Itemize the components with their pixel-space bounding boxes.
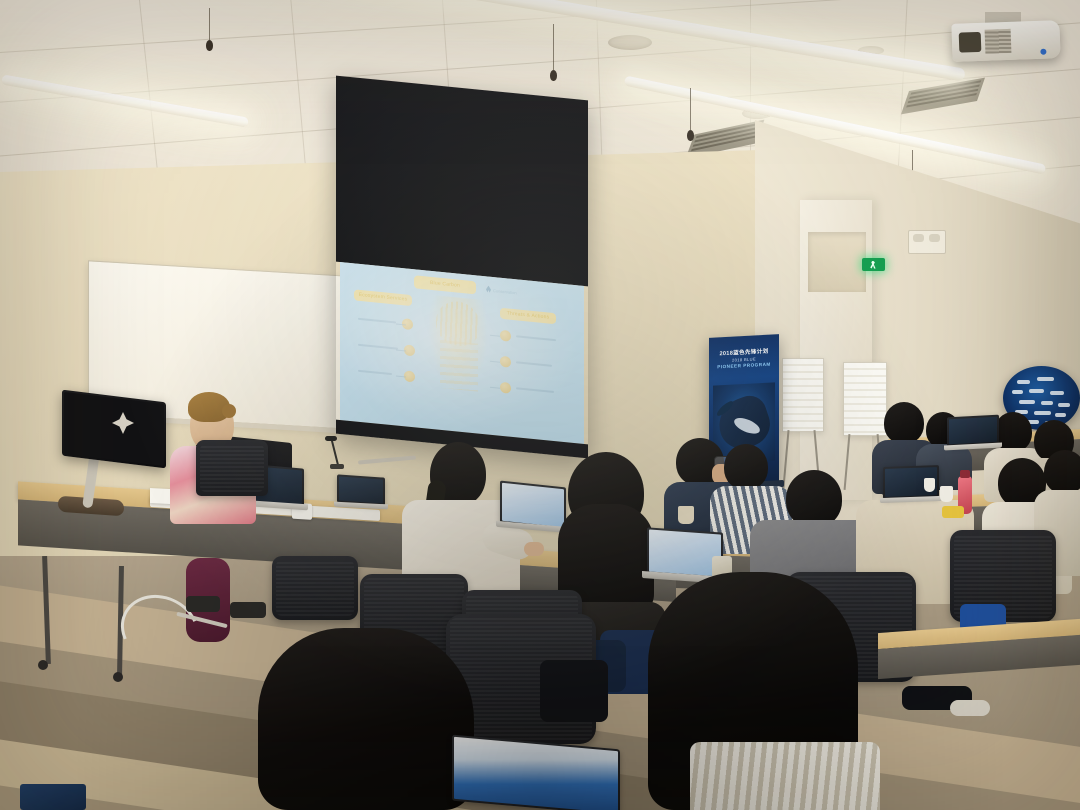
attendee-head [884,402,924,444]
attendee-head [1044,450,1080,494]
projector-vent [985,29,1012,54]
flipchart-easel-left [782,358,822,432]
cup [940,486,953,502]
bottle-cap [960,470,970,478]
flipchart-easel-right [843,362,885,436]
emergency-light [908,230,946,254]
projection-screen: Blue Carbon Conservation Ecosystem Servi… [336,76,588,459]
foreground-screen-left [20,784,86,810]
desk-caster [113,672,123,682]
monitor-screen [64,392,164,466]
cup [924,478,935,492]
wall-niche [808,232,866,292]
microphone-head-icon [325,436,337,441]
projector [951,20,1060,62]
presenter-hair-bun [222,404,236,418]
hvac-vent [901,78,985,115]
foreground-hair [258,628,474,810]
presenter-monitor [62,390,166,469]
desk-caster [38,660,48,670]
slide-surface: Blue Carbon Conservation Ecosystem Servi… [340,262,584,444]
classroom-photo: Blue Carbon Conservation Ecosystem Servi… [0,0,1080,810]
yellow-item [942,506,964,518]
presenter-shoe [186,596,220,612]
exit-sign [862,258,885,271]
attendee-laptop-right-1[interactable] [944,416,1000,450]
shoe [950,700,990,716]
projector-led [1040,49,1046,55]
screen-masking [336,76,588,287]
desk-laptop-secondary[interactable] [334,476,386,510]
attendee-head [724,444,768,490]
projector-lens [959,32,982,53]
chair [272,556,358,620]
microphone-base [330,464,344,469]
cup [678,506,694,524]
cable-cluster [540,660,608,722]
attendee-laptop-1[interactable] [496,484,568,532]
presenter-shoe [230,602,266,618]
foreground-laptop[interactable] [446,742,626,810]
foreground-attendee-top [690,742,880,810]
attendee-hand [524,542,544,556]
presenter-chair [196,440,268,496]
exit-runner-icon [870,261,877,269]
